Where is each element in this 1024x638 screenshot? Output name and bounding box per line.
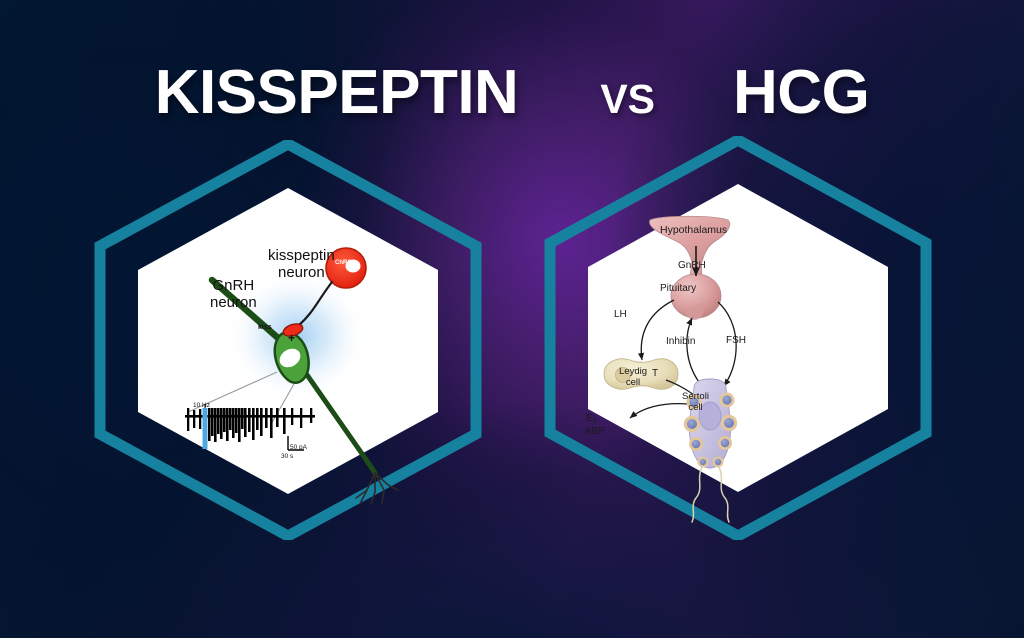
sperm-tails xyxy=(692,467,729,522)
stimulus-bar xyxy=(203,408,208,449)
gnrh-neuron-label: GnRH neuron xyxy=(210,278,257,312)
kiss-terminal-label: kiss xyxy=(258,324,272,332)
stim-frequency-label: 10 Hz xyxy=(193,402,210,409)
time-scale-label: 30 s xyxy=(281,453,293,460)
pituitary-label: Pituitary xyxy=(660,283,696,295)
title-row: KISSPEPTIN VS HCG xyxy=(0,62,1024,124)
lh-label: LH xyxy=(614,309,627,321)
poster-canvas: KISSPEPTIN VS HCG xyxy=(0,0,1024,638)
kisspeptin-neuron-label: kisspeptin neuron xyxy=(268,248,335,282)
inhibin-label: Inhibin xyxy=(666,336,695,348)
hpg-axis-schematic: Hypothalamus GnRH Pituitary LH Inhibin F… xyxy=(542,136,934,540)
chr2-label: ChR2 xyxy=(335,260,351,267)
gnrh-kisspeptin-schematic: GnRH neuron kisspeptin neuron kiss + ChR… xyxy=(92,140,484,540)
kisspeptin-hexagon-panel[interactable]: GnRH neuron kisspeptin neuron kiss + ChR… xyxy=(92,140,484,540)
versus-label: VS xyxy=(600,79,655,120)
lh-arrow xyxy=(641,300,674,360)
page-title-right: HCG xyxy=(733,62,869,124)
leydig-cell-label: Leydig cell xyxy=(619,367,647,389)
testosterone-label: T xyxy=(652,368,658,380)
fsh-label: FSH xyxy=(726,335,746,347)
hpg-diagram-area: Hypothalamus GnRH Pituitary LH Inhibin F… xyxy=(542,136,934,540)
abp-label: ABP xyxy=(585,426,605,438)
header: KISSPEPTIN VS HCG xyxy=(0,0,1024,150)
sertoli-cell-label: Sertoli cell xyxy=(682,392,709,414)
estradiol-label: E2 xyxy=(586,413,597,425)
current-scale-label: 50 pA xyxy=(290,444,307,451)
page-title-left: KISSPEPTIN xyxy=(155,62,519,124)
hypothalamus-label: Hypothalamus xyxy=(660,224,727,236)
axon-terminal-branches xyxy=(356,473,398,504)
e2-abp-arrow xyxy=(630,404,688,418)
gnrh-label: GnRH xyxy=(678,260,706,272)
inhibin-arrow xyxy=(687,318,702,386)
hcg-hexagon-panel[interactable]: Hypothalamus GnRH Pituitary LH Inhibin F… xyxy=(542,136,934,540)
kisspeptin-diagram-area: GnRH neuron kisspeptin neuron kiss + ChR… xyxy=(92,140,484,540)
excitatory-sign-label: + xyxy=(288,332,295,345)
